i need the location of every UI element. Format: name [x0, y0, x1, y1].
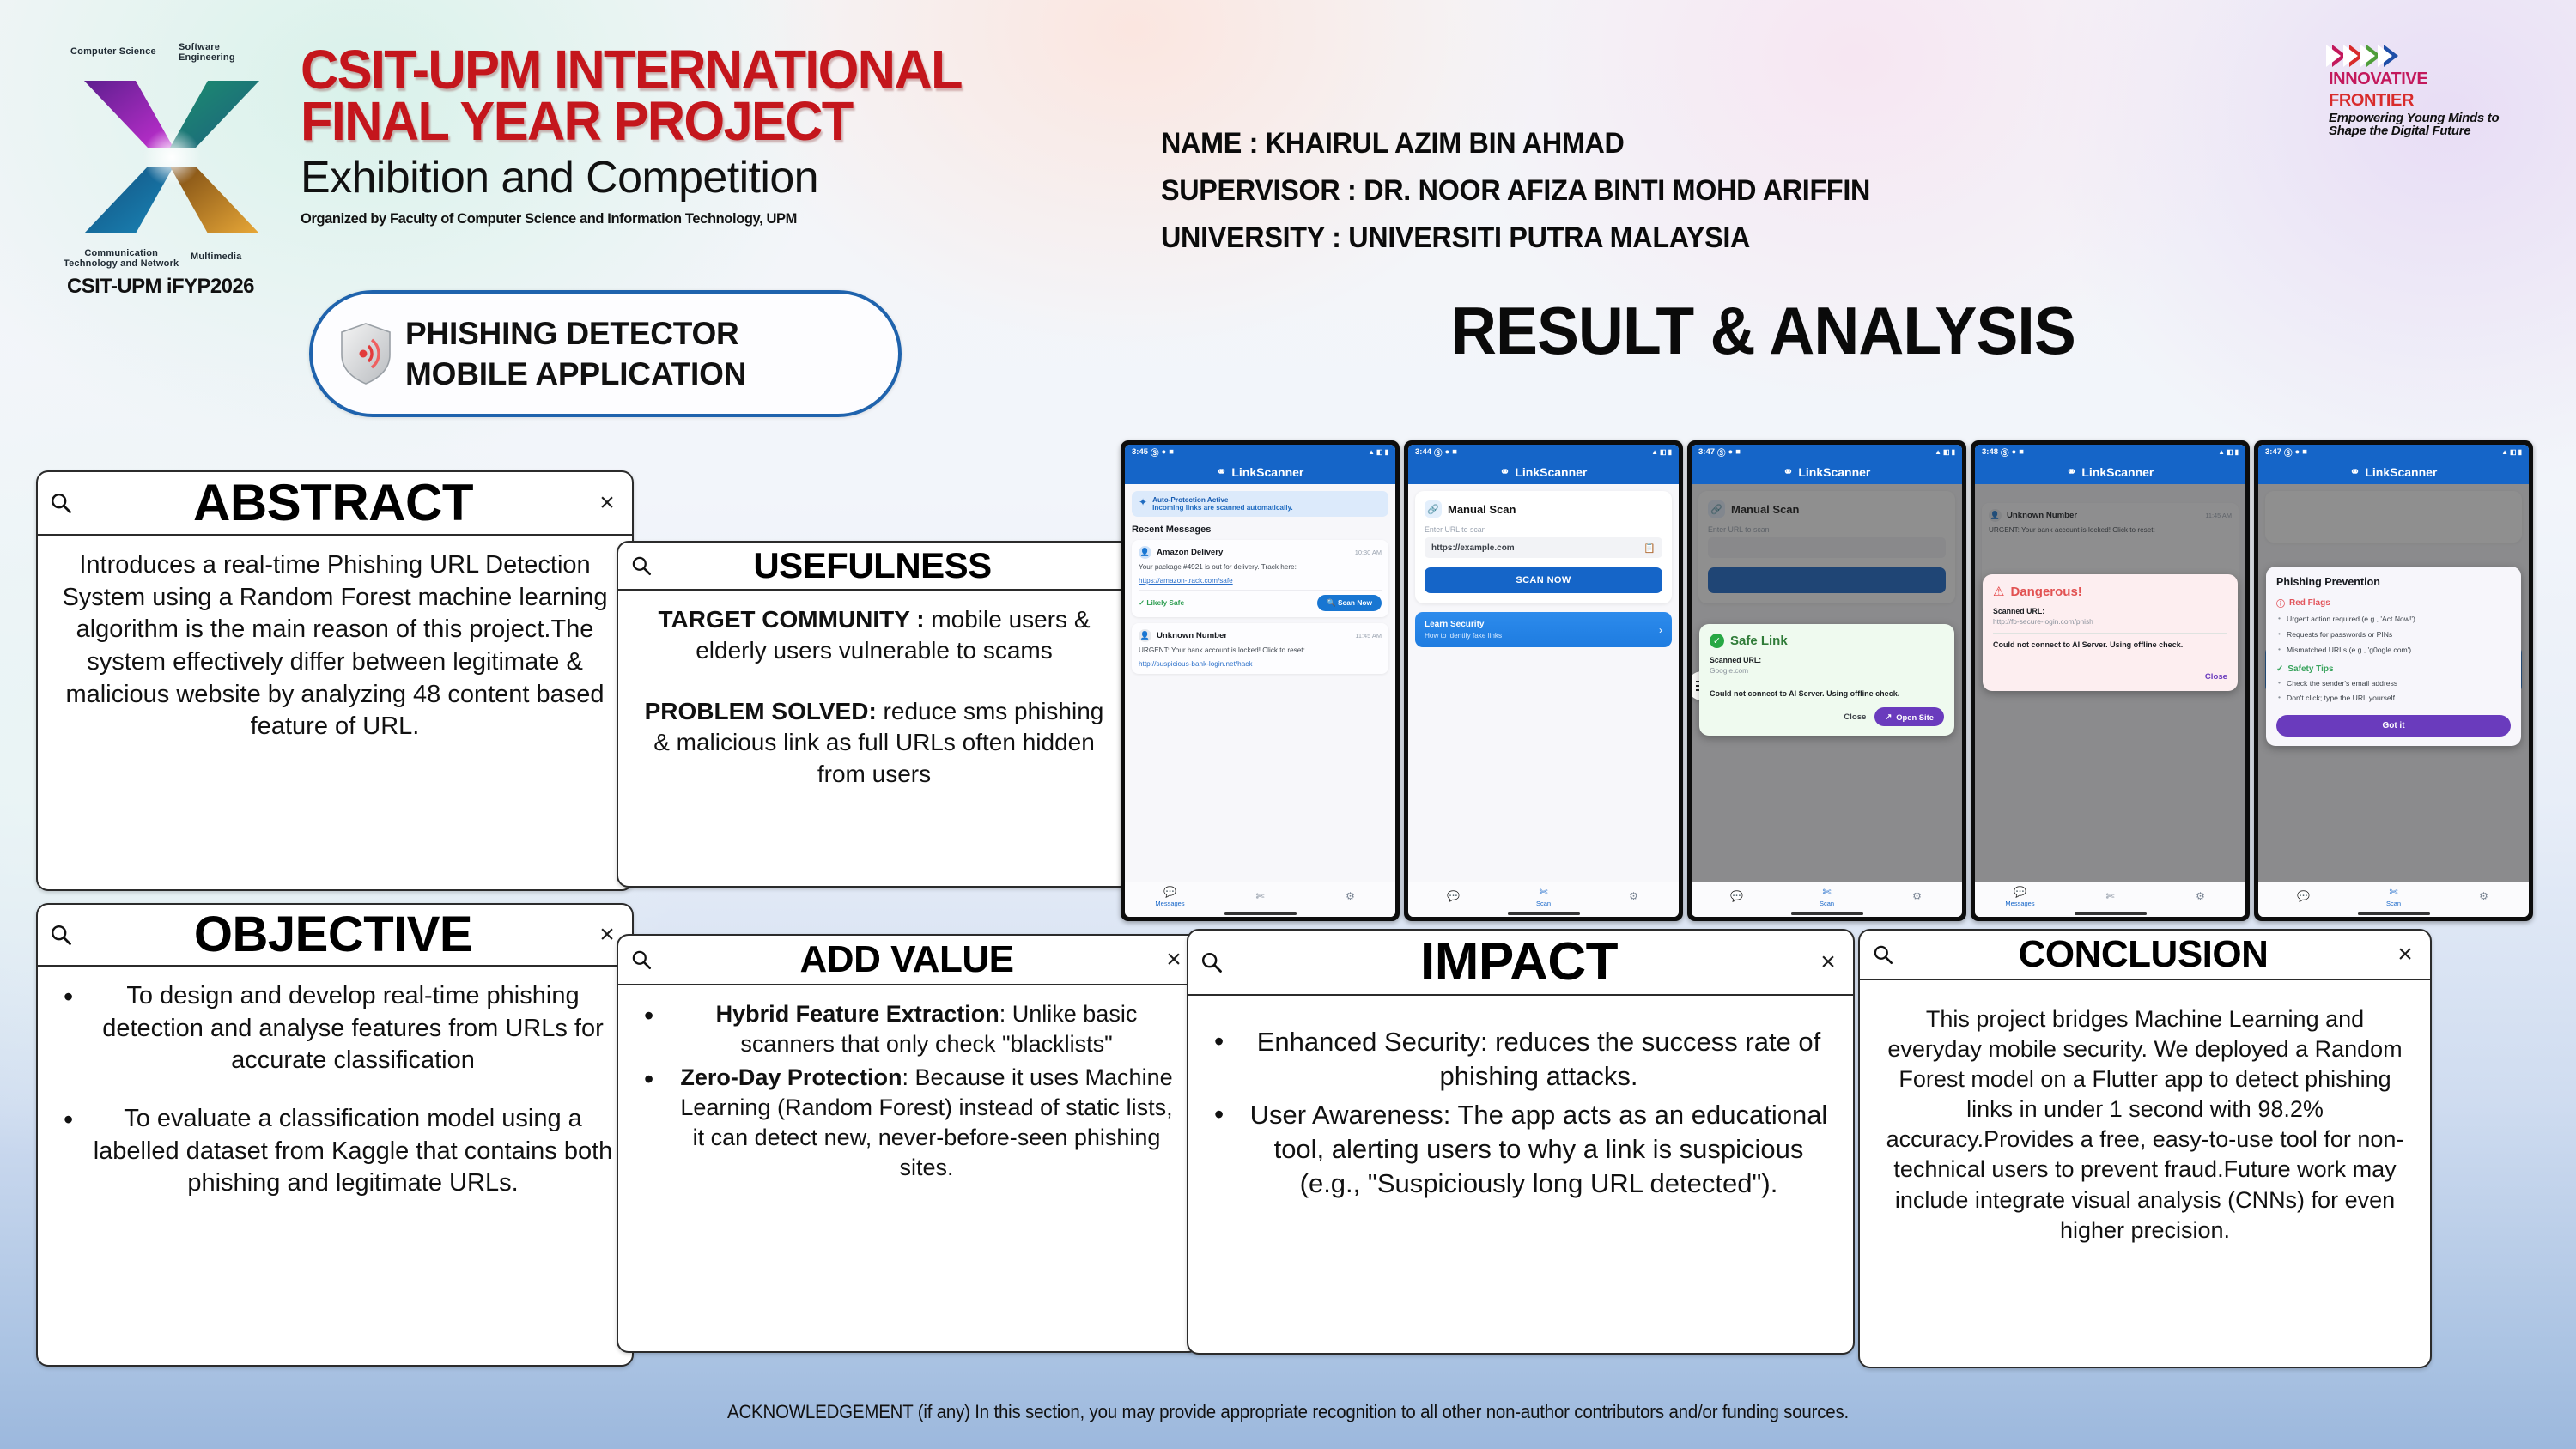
app-title: LinkScanner — [2081, 465, 2154, 479]
nav-scan[interactable]: ✄Scan — [2348, 885, 2439, 907]
open-site-button[interactable]: ↗Open Site — [1874, 707, 1944, 726]
scanned-url-value: Google.com — [1710, 666, 1944, 675]
shield-icon — [338, 322, 393, 385]
nav-scan[interactable]: ✄ — [1215, 889, 1305, 903]
card-impact-body: Enhanced Security: reduces the success r… — [1188, 996, 1853, 1216]
auto-protection-banner: ✦ Auto-Protection Active Incoming links … — [1132, 491, 1388, 517]
safety-tips-heading: ✓Safety Tips — [2276, 664, 2511, 674]
signal-icon: ◧ — [1943, 448, 1950, 456]
battery-icon: ▮ — [2235, 448, 2239, 456]
result-analysis-heading: RESULT & ANALYSIS — [1451, 292, 2075, 370]
list-item: User Awareness: The app acts as an educa… — [1207, 1098, 1834, 1202]
nav-messages[interactable]: 💬 — [2258, 889, 2348, 903]
card-impact: IMPACT × Enhanced Security: reduces the … — [1187, 929, 1855, 1355]
section-recent-messages: Recent Messages — [1132, 524, 1388, 535]
location-icon: ● — [1728, 447, 1734, 457]
nav-messages[interactable]: 💬 — [1692, 889, 1782, 903]
if-tagline: Empowering Young Minds to Shape the Digi… — [2329, 112, 2526, 138]
search-icon — [46, 923, 76, 947]
nav-settings[interactable]: ⚙ — [1305, 889, 1395, 903]
learn-security-card[interactable]: Learn Security How to identify fake link… — [1415, 612, 1672, 647]
location-icon: ● — [1162, 447, 1167, 457]
app-bar: ⚭ LinkScanner — [1125, 459, 1395, 484]
wifi-icon: ▲ — [1368, 448, 1375, 456]
app-icon: ■ — [2019, 447, 2024, 457]
card-objective-title: OBJECTIVE — [76, 910, 591, 960]
app-title: LinkScanner — [1231, 465, 1303, 479]
event-organizer: Organized by Faculty of Computer Science… — [301, 210, 1100, 227]
home-indicator — [1408, 911, 1679, 917]
external-link-icon: ↗ — [1885, 712, 1892, 722]
close-icon[interactable]: × — [2389, 942, 2421, 967]
phone-screen: 3:48 Ⓢ●■ ▲◧▮ ⚭ LinkScanner 👤 Unknown Num… — [1975, 445, 2245, 917]
nav-settings[interactable]: ⚙ — [1589, 889, 1679, 903]
card-add-value: ADD VALUE × Hybrid Feature Extraction: U… — [617, 934, 1200, 1353]
list-item: To design and develop real-time phishing… — [57, 980, 613, 1077]
phone-body: 🔗 Manual Scan Enter URL to scan https://… — [1408, 484, 1679, 882]
learn-subtitle: How to identify fake links — [1425, 632, 1502, 640]
card-abstract: ABSTRACT × Introduces a real-time Phishi… — [36, 470, 634, 891]
scan-icon: ✄ — [2105, 890, 2114, 902]
app-title: LinkScanner — [1515, 465, 1587, 479]
shield-icon: ⚭ — [2067, 464, 2077, 479]
list-item: Requests for passwords or PINs — [2276, 630, 2511, 640]
manual-scan-card: 🔗 Manual Scan Enter URL to scan https://… — [1415, 491, 1672, 603]
shield-icon: ⚭ — [1500, 464, 1510, 479]
field-label: Enter URL to scan — [1425, 525, 1662, 534]
scan-icon: ✄ — [1539, 886, 1547, 898]
status-badge: ✓ Likely Safe — [1139, 598, 1184, 607]
meta-supervisor: SUPERVISOR : DR. NOOR AFIZA BINTI MOHD A… — [1161, 167, 1870, 215]
card-objective-body: To design and develop real-time phishing… — [38, 967, 632, 1216]
close-button[interactable]: Close — [1844, 712, 1866, 722]
usefulness-target: TARGET COMMUNITY : mobile users & elderl… — [637, 604, 1111, 667]
scanned-url-label: Scanned URL: — [1710, 656, 1944, 664]
message-icon: 💬 — [2014, 886, 2026, 898]
dnd-icon: Ⓢ — [2001, 446, 2009, 458]
close-icon[interactable]: × — [591, 490, 623, 516]
phone-screen: 3:44 Ⓢ●■ ▲◧▮ ⚭ LinkScanner 🔗 Manual Scan… — [1408, 445, 1679, 917]
divider — [1710, 682, 1944, 682]
add-value-label-0: Hybrid Feature Extraction — [716, 1001, 999, 1027]
list-item: To evaluate a classification model using… — [57, 1103, 613, 1200]
banner-title: Auto-Protection Active — [1152, 496, 1293, 504]
bottom-nav: 💬 ✄Scan ⚙ — [2258, 882, 2529, 911]
card-impact-title: IMPACT — [1226, 936, 1812, 989]
project-pill-text: PHISHING DETECTOR MOBILE APPLICATION — [405, 313, 746, 395]
dnd-icon: Ⓢ — [1434, 446, 1443, 458]
status-bar: 3:47 Ⓢ●■ ▲◧▮ — [1692, 445, 1962, 459]
scan-now-button[interactable]: SCAN NOW — [1425, 567, 1662, 593]
message-icon: 💬 — [1730, 890, 1743, 902]
message-icon: 💬 — [2297, 890, 2310, 902]
wifi-icon: ▲ — [2218, 448, 2225, 456]
meta-name: NAME : KHAIRUL AZIM BIN AHMAD — [1161, 120, 1870, 167]
status-bar: 3:47 Ⓢ●■ ▲◧▮ — [2258, 445, 2529, 459]
phone-body: 👤 Unknown Number 11:45 AM URGENT: Your b… — [1975, 484, 2245, 882]
list-item: Mismatched URLs (e.g., 'g0ogle.com') — [2276, 646, 2511, 656]
home-indicator — [1692, 911, 1962, 917]
status-bar: 3:44 Ⓢ●■ ▲◧▮ — [1408, 445, 1679, 459]
app-title: LinkScanner — [1798, 465, 1870, 479]
message-icon: 💬 — [1163, 886, 1176, 898]
nav-messages[interactable]: 💬Messages — [1125, 885, 1215, 907]
close-button[interactable]: Close — [2205, 672, 2227, 682]
nav-messages[interactable]: 💬Messages — [1975, 885, 2065, 907]
scan-icon: ✄ — [1822, 886, 1831, 898]
signal-icon: ◧ — [2227, 448, 2233, 456]
app-icon: ■ — [1735, 447, 1741, 457]
card-abstract-header: ABSTRACT × — [38, 472, 632, 536]
dialog-title: Safe Link — [1730, 634, 1788, 648]
phone-screen: 3:47 Ⓢ●■ ▲◧▮ ⚭ LinkScanner Phishing Prev… — [2258, 445, 2529, 917]
app-icon: ■ — [2302, 447, 2307, 457]
spacer — [637, 667, 1111, 696]
wifi-icon: ▲ — [1935, 448, 1941, 456]
message-text: URGENT: Your bank account is locked! Cli… — [1139, 646, 1382, 656]
add-value-list: Hybrid Feature Extraction: Unlike basic … — [637, 999, 1180, 1184]
card-impact-header: IMPACT × — [1188, 931, 1853, 996]
status-right: ▲◧▮ — [2501, 448, 2522, 456]
app-icon: ■ — [1169, 447, 1174, 457]
status-right: ▲◧▮ — [2218, 448, 2239, 456]
event-title-block: CSIT-UPM INTERNATIONAL FINAL YEAR PROJEC… — [301, 45, 1125, 227]
card-usefulness-title: USEFULNESS — [656, 548, 1089, 584]
url-input[interactable]: https://example.com 📋 — [1425, 537, 1662, 558]
status-time: 3:47 — [1698, 447, 1715, 457]
list-item: Zero-Day Protection: Because it uses Mac… — [637, 1063, 1180, 1183]
dialog-note: Could not connect to AI Server. Using of… — [1993, 640, 2227, 650]
list-item: Check the sender's email address — [2276, 679, 2511, 689]
phone-mockup-messages: 3:45 Ⓢ●■ ▲◧▮ ⚭ LinkScanner ✦ Auto-Protec… — [1121, 440, 1400, 921]
card-conclusion-title: CONCLUSION — [1898, 936, 2389, 973]
safe-link-dialog: ✓ Safe Link Scanned URL: Google.com Coul… — [1699, 624, 1954, 736]
wifi-icon: ▲ — [1651, 448, 1658, 456]
status-right: ▲◧▮ — [1368, 448, 1388, 456]
list-item: Enhanced Security: reduces the success r… — [1207, 1025, 1834, 1094]
card-conclusion-header: CONCLUSION × — [1860, 931, 2430, 980]
acknowledgement-text: ACKNOWLEDGEMENT (if any) In this section… — [90, 1401, 2486, 1423]
gear-icon: ⚙ — [2196, 890, 2205, 902]
dialog-title: Dangerous! — [2010, 585, 2081, 599]
message-sender: Amazon Delivery — [1157, 548, 1223, 557]
learn-title: Learn Security — [1425, 620, 1502, 629]
location-icon: ● — [1445, 447, 1450, 457]
message-icon: 💬 — [1447, 890, 1460, 902]
nav-settings[interactable]: ⚙ — [2155, 889, 2245, 903]
battery-icon: ▮ — [1668, 448, 1672, 456]
csit-upm-logo: Computer Science SoftwareEngineering Com… — [48, 24, 331, 273]
message-link[interactable]: https://amazon-track.com/safe — [1139, 577, 1382, 585]
search-icon — [1868, 943, 1898, 966]
list-item: Don't click; type the URL yourself — [2276, 694, 2511, 704]
chevron-icon-blue — [2384, 45, 2398, 67]
avatar: 👤 — [1139, 629, 1151, 642]
close-icon[interactable]: × — [1157, 947, 1190, 973]
dnd-icon: Ⓢ — [2284, 446, 2293, 458]
phone-screen: 3:45 Ⓢ●■ ▲◧▮ ⚭ LinkScanner ✦ Auto-Protec… — [1125, 445, 1395, 917]
card-conclusion: CONCLUSION × This project bridges Machin… — [1858, 929, 2432, 1368]
nav-settings[interactable]: ⚙ — [1872, 889, 1962, 903]
event-title-line2: FINAL YEAR PROJECT — [301, 96, 1092, 148]
banner-subtitle: Incoming links are scanned automatically… — [1152, 504, 1293, 512]
shield-icon: ⚭ — [2350, 464, 2360, 479]
search-icon — [627, 949, 656, 971]
home-indicator — [1125, 911, 1395, 917]
message-sender: Unknown Number — [1157, 631, 1227, 640]
bottom-nav: 💬 ✄Scan ⚙ — [1692, 882, 1962, 911]
x-emblem-icon — [77, 65, 266, 246]
dialog-title: Phishing Prevention — [2276, 576, 2511, 588]
bottom-nav: 💬 ✄Scan ⚙ — [1408, 882, 1679, 911]
meta-university: UNIVERSITY : UNIVERSITI PUTRA MALAYSIA — [1161, 215, 1870, 262]
link-icon: 🔗 — [1425, 500, 1442, 518]
logo-caption-comm-tech: CommunicationTechnology and Network — [64, 249, 179, 269]
sparkle-icon: ✦ — [1139, 496, 1147, 508]
status-time: 3:45 — [1132, 447, 1148, 457]
battery-icon: ▮ — [2518, 448, 2522, 456]
app-bar: ⚭ LinkScanner — [2258, 459, 2529, 484]
check-circle-icon: ✓ — [1710, 634, 1724, 648]
if-name-line2: FRONTIER — [2329, 93, 2526, 110]
phone-mockup-phishing-prevention: 3:47 Ⓢ●■ ▲◧▮ ⚭ LinkScanner Phishing Prev… — [2254, 440, 2533, 921]
card-objective-header: OBJECTIVE × — [38, 905, 632, 967]
status-right: ▲◧▮ — [1935, 448, 1955, 456]
app-screenshot-strip: 3:45 Ⓢ●■ ▲◧▮ ⚭ LinkScanner ✦ Auto-Protec… — [1121, 440, 2533, 921]
signal-icon: ◧ — [2510, 448, 2517, 456]
nav-scan[interactable]: ✄Scan — [1498, 885, 1589, 907]
phone-body: ✦ Auto-Protection Active Incoming links … — [1125, 484, 1395, 882]
logo-caption-software-engineering: SoftwareEngineering — [179, 43, 235, 63]
red-flags-heading: ⓘRed Flags — [2276, 597, 2511, 609]
search-icon — [46, 491, 76, 515]
alert-circle-icon: ⓘ — [2276, 597, 2285, 609]
gear-icon: ⚙ — [2479, 890, 2488, 902]
avatar: 👤 — [1139, 546, 1151, 559]
shield-icon: ⚭ — [1783, 464, 1794, 479]
logo-caption-computer-science: Computer Science — [70, 47, 156, 58]
project-pill-line1: PHISHING DETECTOR — [405, 313, 746, 354]
project-pill-line2: MOBILE APPLICATION — [405, 354, 746, 394]
phone-body: 🔗 Manual Scan Enter URL to scan ✓ Safe L… — [1692, 484, 1962, 882]
warning-icon: ⚠ — [1993, 584, 2004, 599]
usefulness-problem-label: PROBLEM SOLVED: — [645, 698, 877, 724]
scanned-url-label: Scanned URL: — [1993, 607, 2227, 615]
phone-screen: 3:47 Ⓢ●■ ▲◧▮ ⚭ LinkScanner 🔗 Manual Scan… — [1692, 445, 1962, 917]
author-meta-block: NAME : KHAIRUL AZIM BIN AHMAD SUPERVISOR… — [1161, 120, 1908, 262]
message-time: 10:30 AM — [1355, 549, 1382, 556]
add-value-label-1: Zero-Day Protection — [680, 1064, 902, 1090]
app-title: LinkScanner — [2365, 465, 2437, 479]
logo-caption-multimedia: Multimedia — [191, 252, 241, 263]
signal-icon: ◧ — [1376, 448, 1383, 456]
card-abstract-text: Introduces a real-time Phishing URL Dete… — [57, 549, 613, 743]
phone-mockup-safe-link: 3:47 Ⓢ●■ ▲◧▮ ⚭ LinkScanner 🔗 Manual Scan… — [1687, 440, 1966, 921]
scanned-url-value: http://fb-secure-login.com/phish — [1993, 617, 2227, 626]
dangerous-dialog: ⚠ Dangerous! Scanned URL: http://fb-secu… — [1983, 574, 2238, 691]
clipboard-icon[interactable]: 📋 — [1643, 543, 1656, 554]
bottom-nav: 💬Messages ✄ ⚙ — [1125, 882, 1395, 911]
project-title-pill: PHISHING DETECTOR MOBILE APPLICATION — [309, 290, 902, 417]
card-usefulness-header: USEFULNESS — [618, 543, 1130, 591]
message-time: 11:45 AM — [1355, 632, 1382, 640]
objective-list: To design and develop real-time phishing… — [57, 980, 613, 1200]
shield-icon: ⚭ — [1217, 464, 1227, 479]
app-icon: ■ — [1452, 447, 1457, 457]
nav-scan[interactable]: ✄ — [2065, 889, 2155, 903]
card-abstract-title: ABSTRACT — [76, 477, 591, 529]
impact-list: Enhanced Security: reduces the success r… — [1207, 1025, 1834, 1201]
gear-icon: ⚙ — [1346, 890, 1355, 902]
phone-mockup-manual-scan: 3:44 Ⓢ●■ ▲◧▮ ⚭ LinkScanner 🔗 Manual Scan… — [1404, 440, 1683, 921]
home-indicator — [2258, 911, 2529, 917]
status-right: ▲◧▮ — [1651, 448, 1672, 456]
phone-body: Phishing Prevention ⓘRed Flags Urgent ac… — [2258, 484, 2529, 882]
phone-mockup-dangerous: 3:48 Ⓢ●■ ▲◧▮ ⚭ LinkScanner 👤 Unknown Num… — [1971, 440, 2250, 921]
battery-icon: ▮ — [1385, 448, 1388, 456]
card-conclusion-body: This project bridges Machine Learning an… — [1860, 980, 2430, 1258]
location-icon: ● — [2295, 447, 2300, 457]
wifi-icon: ▲ — [2501, 448, 2508, 456]
dnd-icon: Ⓢ — [1717, 446, 1726, 458]
card-abstract-body: Introduces a real-time Phishing URL Dete… — [38, 536, 632, 755]
event-title-line1: CSIT-UPM INTERNATIONAL — [301, 45, 1092, 96]
divider — [1993, 633, 2227, 634]
battery-icon: ▮ — [1952, 448, 1955, 456]
usefulness-problem: PROBLEM SOLVED: reduce sms phishing & ma… — [637, 696, 1111, 790]
signal-icon: ◧ — [1660, 448, 1667, 456]
check-circle-icon: ✓ — [2276, 664, 2283, 674]
card-objective: OBJECTIVE × To design and develop real-t… — [36, 903, 634, 1367]
dnd-icon: Ⓢ — [1151, 446, 1159, 458]
message-text: Your package #4921 is out for delivery. … — [1139, 563, 1382, 573]
nav-settings[interactable]: ⚙ — [2439, 889, 2529, 903]
scan-icon: ✄ — [1255, 890, 1264, 902]
manual-scan-title: Manual Scan — [1448, 503, 1516, 516]
app-bar: ⚭ LinkScanner — [1408, 459, 1679, 484]
list-item[interactable]: 👤 Amazon Delivery 10:30 AM Your package … — [1132, 540, 1388, 617]
url-input-value: https://example.com — [1431, 543, 1515, 553]
card-usefulness: USEFULNESS TARGET COMMUNITY : mobile use… — [617, 541, 1132, 888]
chevron-icons — [2332, 45, 2526, 67]
bottom-nav: 💬Messages ✄ ⚙ — [1975, 882, 2245, 911]
close-icon[interactable]: × — [1812, 949, 1844, 975]
search-icon — [1197, 950, 1226, 974]
usefulness-target-label: TARGET COMMUNITY : — [658, 606, 924, 633]
card-add-value-header: ADD VALUE × — [618, 936, 1199, 985]
home-indicator — [1975, 911, 2245, 917]
status-time: 3:48 — [1982, 447, 1998, 457]
logo-badge-ifyp: CSIT-UPM iFYP2026 — [67, 275, 254, 299]
location-icon: ● — [2012, 447, 2017, 457]
app-bar: ⚭ LinkScanner — [1692, 459, 1962, 484]
scan-icon: ✄ — [2389, 886, 2397, 898]
scan-now-button[interactable]: 🔍 Scan Now — [1317, 595, 1382, 611]
dialog-note: Could not connect to AI Server. Using of… — [1710, 688, 1944, 699]
got-it-button[interactable]: Got it — [2276, 715, 2511, 737]
list-item[interactable]: 👤 Unknown Number 11:45 AM URGENT: Your b… — [1132, 623, 1388, 674]
card-add-value-body: Hybrid Feature Extraction: Unlike basic … — [618, 985, 1199, 1199]
if-name-line1: INNOVATIVE — [2329, 71, 2526, 88]
innovative-frontier-logo: INNOVATIVE FRONTIER Empowering Young Min… — [2329, 45, 2526, 138]
phishing-prevention-dialog: Phishing Prevention ⓘRed Flags Urgent ac… — [2266, 567, 2521, 746]
status-bar: 3:48 Ⓢ●■ ▲◧▮ — [1975, 445, 2245, 459]
list-item: Hybrid Feature Extraction: Unlike basic … — [637, 999, 1180, 1059]
nav-messages[interactable]: 💬 — [1408, 889, 1498, 903]
message-link[interactable]: http://suspicious-bank-login.net/hack — [1139, 660, 1382, 668]
card-usefulness-body: TARGET COMMUNITY : mobile users & elderl… — [618, 591, 1130, 802]
status-time: 3:47 — [2265, 447, 2281, 457]
list-item: Urgent action required (e.g., 'Act Now!'… — [2276, 615, 2511, 625]
card-add-value-title: ADD VALUE — [656, 941, 1157, 979]
app-bar: ⚭ LinkScanner — [1975, 459, 2245, 484]
chevron-right-icon: › — [1659, 624, 1662, 636]
gear-icon: ⚙ — [1912, 890, 1922, 902]
status-time: 3:44 — [1415, 447, 1431, 457]
event-subtitle: Exhibition and Competition — [301, 152, 1125, 203]
nav-scan[interactable]: ✄Scan — [1782, 885, 1872, 907]
divider — [1139, 590, 1382, 591]
gear-icon: ⚙ — [1629, 890, 1638, 902]
search-icon — [627, 555, 656, 577]
status-bar: 3:45 Ⓢ●■ ▲◧▮ — [1125, 445, 1395, 459]
card-conclusion-text: This project bridges Machine Learning an… — [1879, 1004, 2411, 1246]
